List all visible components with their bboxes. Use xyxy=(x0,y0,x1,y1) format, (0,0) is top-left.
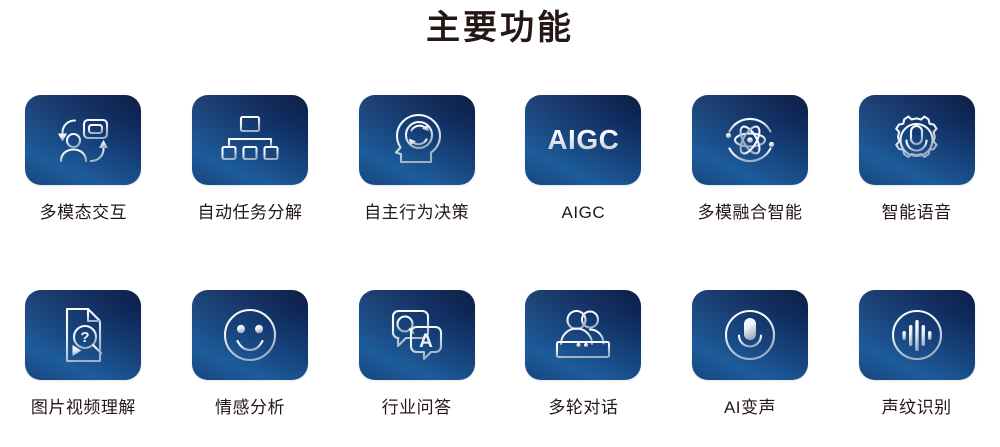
task-decomposition-tree-icon xyxy=(221,113,279,167)
feature-label: 智能语音 xyxy=(882,201,952,225)
head-refresh-decision-icon xyxy=(388,111,446,169)
feature-card-ai-voice-changer[interactable]: AI变声 xyxy=(667,290,834,420)
feature-label: 多轮对话 xyxy=(548,396,618,420)
qa-speech-bubbles-icon: A xyxy=(387,307,447,363)
feature-tile[interactable]: A xyxy=(359,290,475,380)
svg-text:AI: AI xyxy=(912,127,921,137)
voiceprint-waveform-icon xyxy=(888,306,946,364)
atom-fusion-icon xyxy=(720,111,780,169)
feature-tile[interactable] xyxy=(692,95,808,185)
feature-label: 自动任务分解 xyxy=(197,201,302,225)
feature-card-task-decomposition[interactable]: 自动任务分解 xyxy=(167,95,334,225)
multimodal-interaction-icon xyxy=(53,112,113,168)
feature-label: 图片视频理解 xyxy=(31,396,136,420)
gear-ai-microphone-icon: AI xyxy=(887,110,947,170)
svg-text:?: ? xyxy=(81,329,90,346)
feature-grid: 多模态交互 自动任务分解 xyxy=(0,95,1000,420)
feature-label: 行业问答 xyxy=(382,396,452,420)
smiley-face-icon xyxy=(221,306,279,364)
feature-tile[interactable]: ? xyxy=(25,290,141,380)
feature-label: 多模融合智能 xyxy=(697,201,802,225)
feature-overview-page: 主要功能 xyxy=(0,0,1000,447)
feature-tile[interactable] xyxy=(192,290,308,380)
feature-label: 情感分析 xyxy=(215,396,285,420)
feature-card-aigc[interactable]: AIGC AIGC xyxy=(500,95,667,225)
feature-tile[interactable] xyxy=(525,290,641,380)
feature-card-intelligent-voice[interactable]: AI 智能语音 xyxy=(833,95,1000,225)
feature-card-autonomous-decision[interactable]: 自主行为决策 xyxy=(333,95,500,225)
feature-label: 自主行为决策 xyxy=(364,201,469,225)
feature-label: AI变声 xyxy=(724,396,776,420)
feature-tile[interactable]: AI xyxy=(859,95,975,185)
microphone-circle-icon xyxy=(721,306,779,364)
feature-card-multimodal-interaction[interactable]: 多模态交互 xyxy=(0,95,167,225)
feature-tile[interactable] xyxy=(25,95,141,185)
feature-label: AIGC xyxy=(562,201,606,225)
feature-label: 多模态交互 xyxy=(40,201,128,225)
feature-card-multimodal-fusion[interactable]: 多模融合智能 xyxy=(667,95,834,225)
aigc-text-icon: AIGC xyxy=(547,126,619,154)
page-title: 主要功能 xyxy=(0,4,1000,52)
feature-card-voiceprint-recognition[interactable]: 声纹识别 xyxy=(833,290,1000,420)
feature-tile[interactable] xyxy=(859,290,975,380)
two-people-dialogue-icon xyxy=(552,308,614,362)
feature-label: 声纹识别 xyxy=(882,396,952,420)
feature-card-sentiment-analysis[interactable]: 情感分析 xyxy=(167,290,334,420)
feature-card-image-video-understanding[interactable]: ? 图片视频理解 xyxy=(0,290,167,420)
feature-tile[interactable] xyxy=(692,290,808,380)
feature-card-multi-turn-dialogue[interactable]: 多轮对话 xyxy=(500,290,667,420)
feature-tile[interactable]: AIGC xyxy=(525,95,641,185)
feature-tile[interactable] xyxy=(192,95,308,185)
feature-tile[interactable] xyxy=(359,95,475,185)
feature-card-industry-qa[interactable]: A 行业问答 xyxy=(333,290,500,420)
document-magnifier-question-icon: ? xyxy=(56,306,110,364)
svg-text:A: A xyxy=(419,331,433,352)
